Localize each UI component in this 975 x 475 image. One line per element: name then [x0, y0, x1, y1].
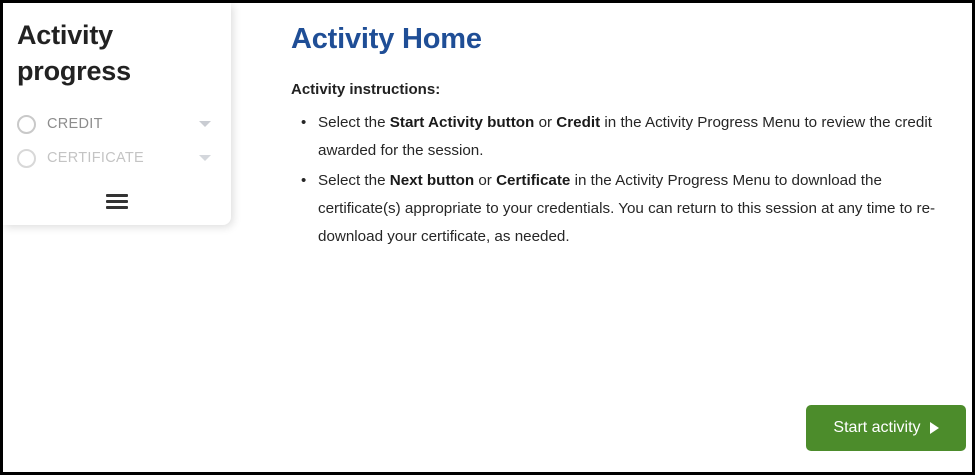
sidebar-item-certificate-label: CERTIFICATE	[47, 150, 199, 166]
page-frame: Activity progress CREDIT CERTIFICATE Act…	[0, 0, 975, 475]
instruction-item: Select the Start Activity button or Cred…	[318, 109, 960, 165]
instructions-list: Select the Start Activity button or Cred…	[291, 109, 960, 251]
circle-outline-icon	[17, 115, 36, 134]
activity-progress-title: Activity progress	[17, 17, 217, 89]
hamburger-menu-icon[interactable]	[17, 188, 217, 214]
caret-down-icon[interactable]	[199, 121, 211, 127]
sidebar-item-credit-label: CREDIT	[47, 116, 199, 132]
sidebar-item-credit[interactable]: CREDIT	[17, 107, 217, 141]
triangle-right-icon	[930, 422, 939, 434]
hamburger-bar-1	[106, 194, 128, 197]
start-activity-button-label: Start activity	[833, 419, 920, 437]
hamburger-bar-3	[106, 206, 128, 209]
page-title: Activity Home	[291, 21, 960, 57]
instructions-label: Activity instructions:	[291, 80, 960, 100]
activity-progress-step-list: CREDIT CERTIFICATE	[17, 107, 217, 175]
circle-outline-icon	[17, 149, 36, 168]
main-content: Activity Home Activity instructions: Sel…	[291, 21, 960, 253]
instruction-item: Select the Next button or Certificate in…	[318, 167, 960, 251]
sidebar-item-certificate[interactable]: CERTIFICATE	[17, 141, 217, 175]
caret-down-icon[interactable]	[199, 155, 211, 161]
hamburger-bar-2	[106, 200, 128, 203]
activity-progress-card: Activity progress CREDIT CERTIFICATE	[3, 3, 231, 225]
start-activity-button[interactable]: Start activity	[806, 405, 966, 451]
